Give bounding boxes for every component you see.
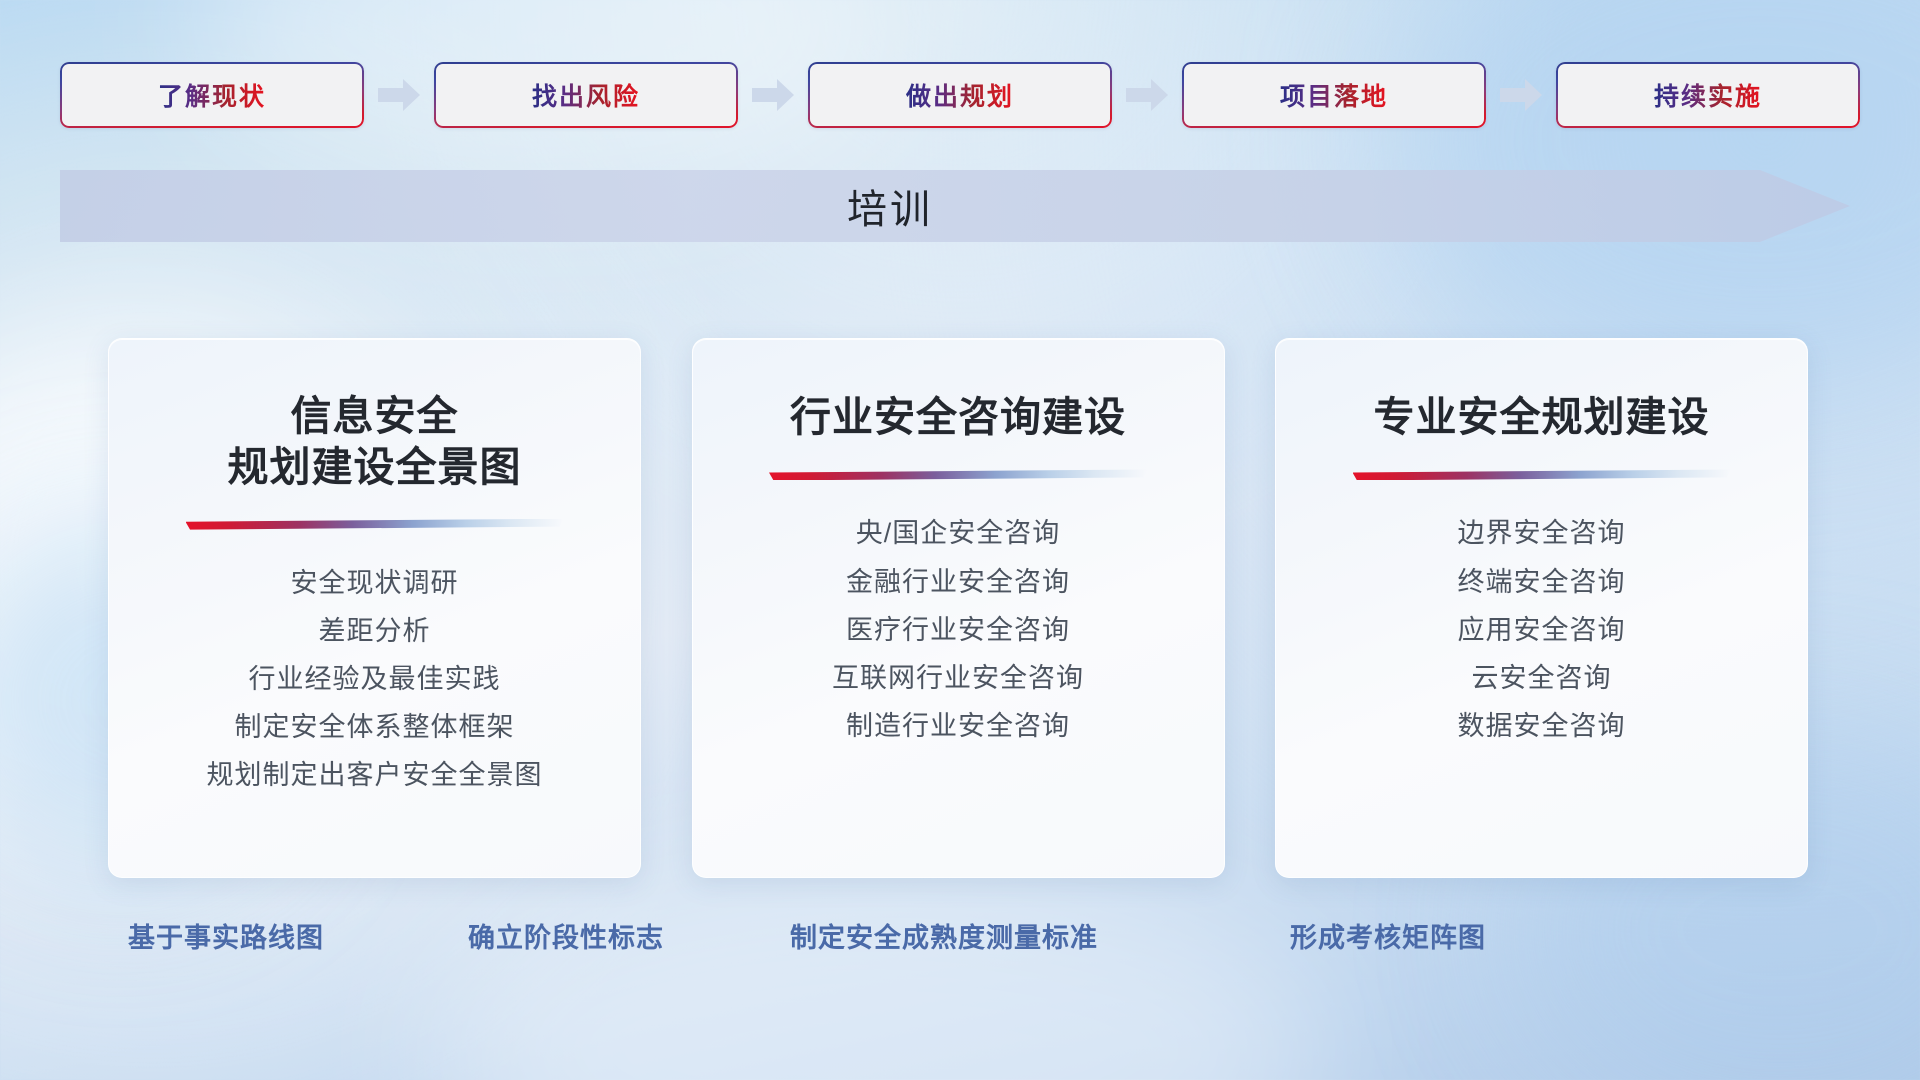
step-box-2[interactable]: 找出风险: [434, 62, 738, 128]
card-list-item[interactable]: 终端安全咨询: [1458, 563, 1626, 602]
card-list-item[interactable]: 制造行业安全咨询: [846, 707, 1070, 746]
step-box-5[interactable]: 持续实施: [1556, 62, 1860, 128]
process-step-row: 了解现状找出风险做出规划项目落地持续实施: [60, 62, 1860, 128]
card-list-item[interactable]: 互联网行业安全咨询: [832, 659, 1084, 698]
card-list-item[interactable]: 制定安全体系整体框架: [235, 708, 515, 747]
footer-label-4: 形成考核矩阵图: [1290, 916, 1486, 955]
arrow-right-icon: [376, 77, 422, 113]
training-banner: 培训: [60, 160, 1850, 252]
card-title: 行业安全咨询建设: [790, 391, 1126, 443]
card-list-item[interactable]: 边界安全咨询: [1458, 514, 1626, 553]
card-list-item[interactable]: 数据安全咨询: [1458, 707, 1626, 746]
step-label: 项目落地: [1280, 77, 1388, 113]
card-divider: [1353, 469, 1731, 480]
card-title: 信息安全 规划建设全景图: [228, 391, 522, 493]
step-box-1[interactable]: 了解现状: [60, 62, 364, 128]
service-card-3[interactable]: 专业安全规划建设边界安全咨询终端安全咨询应用安全咨询云安全咨询数据安全咨询: [1275, 338, 1808, 878]
banner-title: 培训: [60, 160, 1720, 252]
card-list: 安全现状调研差距分析行业经验及最佳实践制定安全体系整体框架规划制定出客户安全全景…: [207, 564, 543, 796]
step-box-3[interactable]: 做出规划: [808, 62, 1112, 128]
footer-label-1: 基于事实路线图: [128, 916, 324, 955]
card-list-item[interactable]: 央/国企安全咨询: [856, 514, 1061, 553]
card-list-item[interactable]: 规划制定出客户安全全景图: [207, 756, 543, 795]
service-card-1[interactable]: 信息安全 规划建设全景图安全现状调研差距分析行业经验及最佳实践制定安全体系整体框…: [108, 338, 641, 878]
footer-label-2: 确立阶段性标志: [468, 916, 664, 955]
card-list-item[interactable]: 云安全咨询: [1472, 659, 1612, 698]
card-divider: [186, 519, 564, 530]
step-label: 找出风险: [532, 77, 640, 113]
card-list: 边界安全咨询终端安全咨询应用安全咨询云安全咨询数据安全咨询: [1458, 514, 1626, 746]
card-list-item[interactable]: 医疗行业安全咨询: [846, 611, 1070, 650]
step-box-4[interactable]: 项目落地: [1182, 62, 1486, 128]
card-list-item[interactable]: 行业经验及最佳实践: [249, 660, 501, 699]
card-list-item[interactable]: 应用安全咨询: [1458, 611, 1626, 650]
card-divider: [769, 469, 1147, 480]
card-list-item[interactable]: 差距分析: [319, 612, 431, 651]
card-list-item[interactable]: 金融行业安全咨询: [846, 563, 1070, 602]
step-label: 持续实施: [1654, 77, 1762, 113]
footer-label-3: 制定安全成熟度测量标准: [790, 916, 1098, 955]
footer-label-row: 基于事实路线图确立阶段性标志制定安全成熟度测量标准形成考核矩阵图: [0, 916, 1920, 972]
arrow-right-icon: [1498, 77, 1544, 113]
card-list: 央/国企安全咨询金融行业安全咨询医疗行业安全咨询互联网行业安全咨询制造行业安全咨…: [832, 514, 1084, 746]
step-label: 了解现状: [158, 77, 266, 113]
card-row: 信息安全 规划建设全景图安全现状调研差距分析行业经验及最佳实践制定安全体系整体框…: [108, 338, 1808, 878]
arrow-right-icon: [750, 77, 796, 113]
service-card-2[interactable]: 行业安全咨询建设央/国企安全咨询金融行业安全咨询医疗行业安全咨询互联网行业安全咨…: [692, 338, 1225, 878]
card-list-item[interactable]: 安全现状调研: [291, 564, 459, 603]
card-title: 专业安全规划建设: [1374, 391, 1710, 443]
arrow-right-icon: [1124, 77, 1170, 113]
step-label: 做出规划: [906, 77, 1014, 113]
